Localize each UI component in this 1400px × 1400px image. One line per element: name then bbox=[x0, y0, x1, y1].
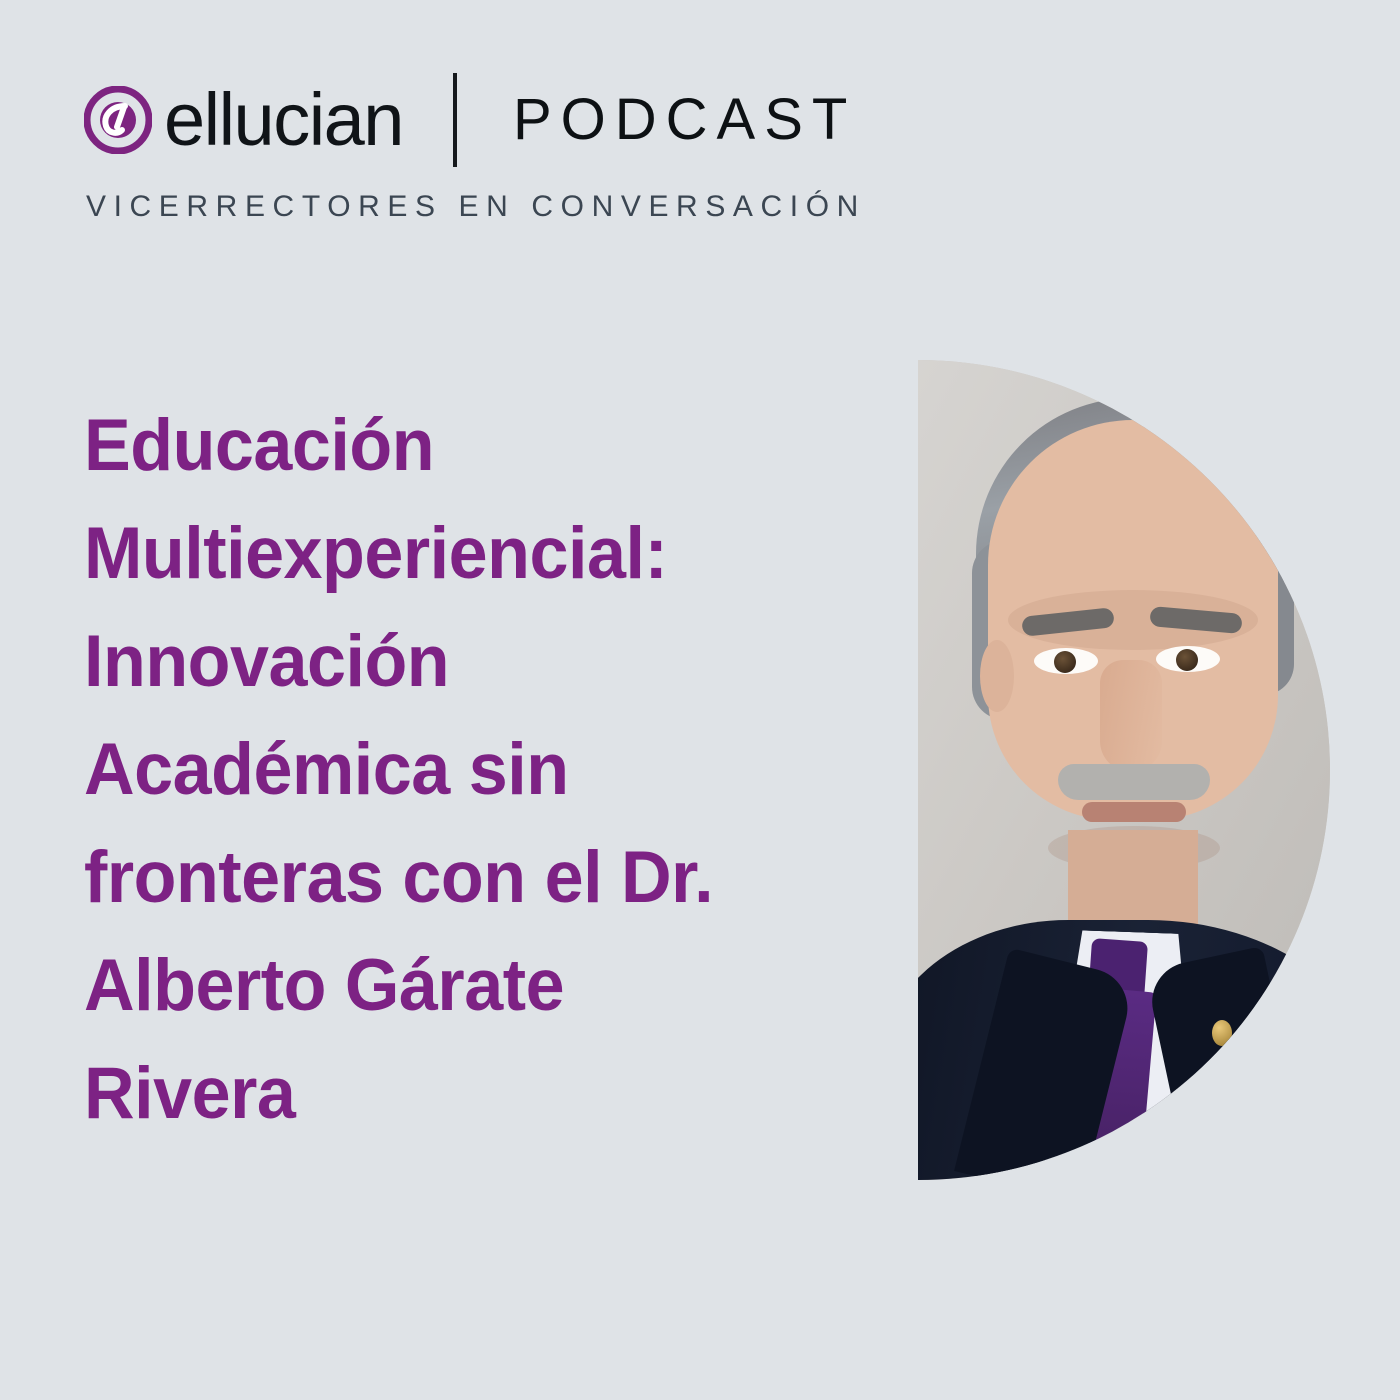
guest-portrait bbox=[918, 360, 1330, 1180]
eye-right bbox=[1156, 646, 1220, 672]
mouth bbox=[1082, 802, 1186, 822]
brand-lockup: ellucian PODCAST bbox=[84, 78, 856, 162]
show-subtitle: VICERRECTORES EN CONVERSACIÓN bbox=[86, 190, 866, 224]
ellucian-circle-e-logo-icon bbox=[84, 86, 152, 154]
podcast-cover-art: ellucian PODCAST VICERRECTORES EN CONVER… bbox=[0, 0, 1400, 1400]
brand-header: ellucian PODCAST VICERRECTORES EN CONVER… bbox=[84, 78, 884, 238]
episode-title: Educación Multiexperiencial: Innovación … bbox=[84, 392, 814, 1148]
brand-divider bbox=[453, 73, 457, 167]
nose bbox=[1100, 660, 1162, 772]
iris-right bbox=[1176, 649, 1198, 671]
ear bbox=[980, 640, 1014, 712]
lapel-pin-icon bbox=[1212, 1020, 1232, 1046]
iris-left bbox=[1054, 651, 1076, 673]
eye-left bbox=[1034, 648, 1098, 674]
ellucian-wordmark: ellucian bbox=[164, 83, 403, 157]
podcast-label: PODCAST bbox=[513, 91, 856, 149]
mustache bbox=[1058, 764, 1210, 800]
